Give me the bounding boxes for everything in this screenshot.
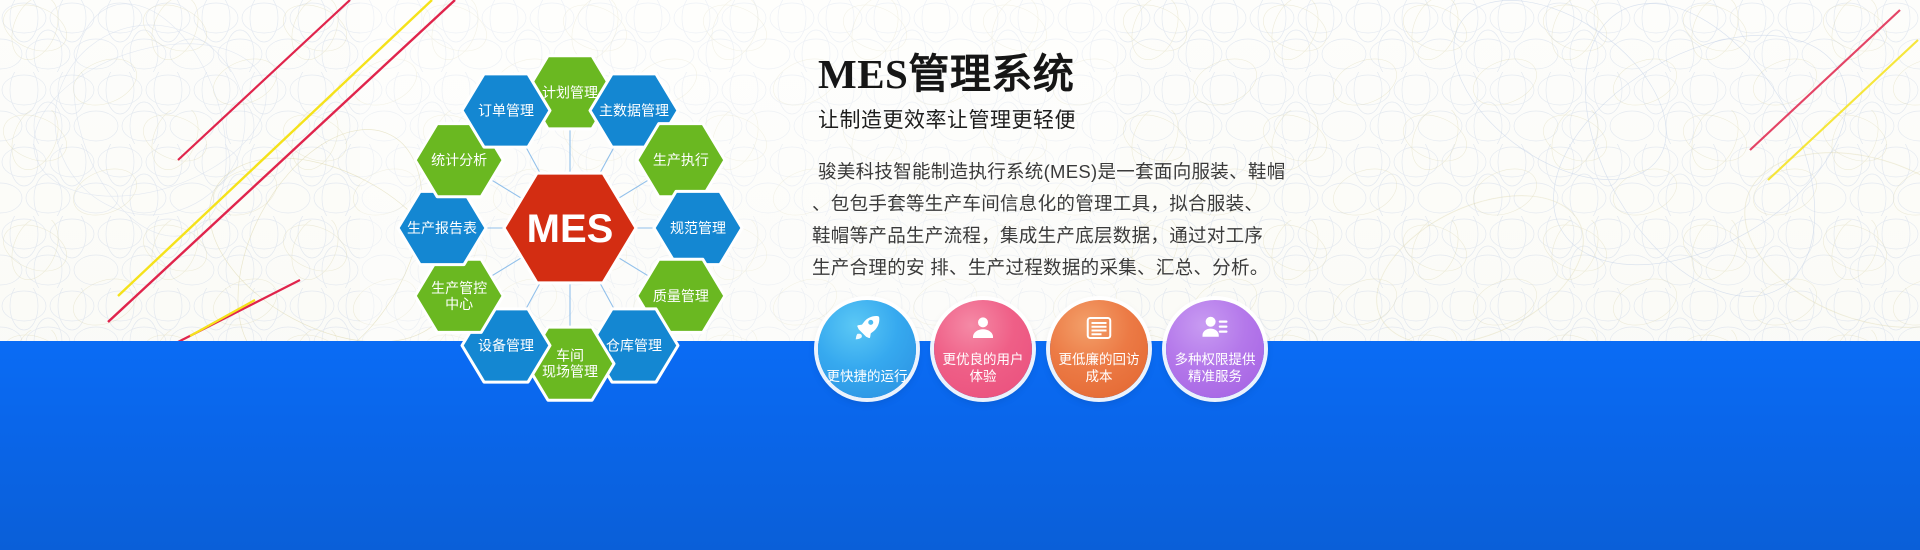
feature-badge-1[interactable]: 更快捷的运行 xyxy=(818,300,916,398)
feature-badge-label: 更快捷的运行 xyxy=(821,368,913,385)
description-line: 骏美科技智能制造执行系统(MES)是一套面向服装、鞋帽 xyxy=(818,156,1288,188)
description-paragraph: 骏美科技智能制造执行系统(MES)是一套面向服装、鞋帽、包包手套等生产车间信息化… xyxy=(818,156,1288,284)
hex-node-label: 主数据管理 xyxy=(599,102,669,118)
hex-node-label: 生产执行 xyxy=(653,152,709,168)
hex-node-label: 中心 xyxy=(445,296,473,312)
feature-badge-3[interactable]: 更低廉的回访成本 xyxy=(1050,300,1148,398)
user-icon xyxy=(968,313,998,343)
hex-node-label: 设备管理 xyxy=(478,338,534,354)
hex-node-label: 生产报告表 xyxy=(407,220,477,236)
description-line: 、包包手套等生产车间信息化的管理工具，拟合服装、 xyxy=(818,188,1288,220)
mes-hex-diagram: 计划管理主数据管理生产执行规范管理质量管理仓库管理车间现场管理设备管理生产管控中… xyxy=(330,10,810,440)
feature-badge-line: 精准服务 xyxy=(1169,368,1261,385)
feature-badge-line: 更快捷的运行 xyxy=(821,368,913,385)
hex-node-label: 现场管理 xyxy=(542,364,598,380)
feature-badge-2[interactable]: 更优良的用户体验 xyxy=(934,300,1032,398)
hex-node-center[interactable]: MES xyxy=(504,173,636,283)
hex-node-label: 计划管理 xyxy=(542,84,598,100)
feature-badge-label: 更优良的用户体验 xyxy=(937,351,1029,385)
feature-badge-line: 体验 xyxy=(937,368,1029,385)
feature-badge-label: 多种权限提供精准服务 xyxy=(1169,351,1261,385)
description-line: 生产合理的安 排、生产过程数据的采集、汇总、分析。 xyxy=(818,252,1288,284)
feature-badge-4[interactable]: 多种权限提供精准服务 xyxy=(1166,300,1264,398)
feature-badge-line: 多种权限提供 xyxy=(1169,351,1261,368)
hex-node-label: 车间 xyxy=(556,348,584,364)
content-column: MES管理系统 让制造更效率让管理更轻便 骏美科技智能制造执行系统(MES)是一… xyxy=(818,52,1538,284)
feature-badge-line: 更低廉的回访 xyxy=(1053,351,1145,368)
hex-node-label: 生产管控 xyxy=(431,280,487,296)
hex-node-label: 规范管理 xyxy=(670,220,726,236)
hex-node-label: 仓库管理 xyxy=(606,338,662,354)
feature-badges: 更快捷的运行更优良的用户体验更低廉的回访成本多种权限提供精准服务 xyxy=(818,300,1264,398)
hex-node-label: 统计分析 xyxy=(431,152,487,168)
hex-node-label: 质量管理 xyxy=(653,288,709,304)
description-line: 鞋帽等产品生产流程，集成生产底层数据，通过对工序 xyxy=(818,220,1288,252)
hex-node-4[interactable]: 规范管理 xyxy=(654,191,742,264)
page-title: MES管理系统 xyxy=(818,52,1538,98)
hex-center-label: MES xyxy=(527,207,614,251)
hex-node-10[interactable]: 生产报告表 xyxy=(398,191,486,264)
page-subtitle: 让制造更效率让管理更轻便 xyxy=(818,104,1538,134)
feature-badge-line: 更优良的用户 xyxy=(937,351,1029,368)
permission-icon xyxy=(1200,313,1230,343)
feature-badge-label: 更低廉的回访成本 xyxy=(1053,351,1145,385)
hex-node-label: 订单管理 xyxy=(478,102,534,118)
feature-badge-line: 成本 xyxy=(1053,368,1145,385)
mes-banner: 计划管理主数据管理生产执行规范管理质量管理仓库管理车间现场管理设备管理生产管控中… xyxy=(0,0,1920,550)
decorative-lines-right xyxy=(1500,0,1920,350)
money-icon xyxy=(1084,313,1114,343)
rocket-icon xyxy=(852,313,882,343)
